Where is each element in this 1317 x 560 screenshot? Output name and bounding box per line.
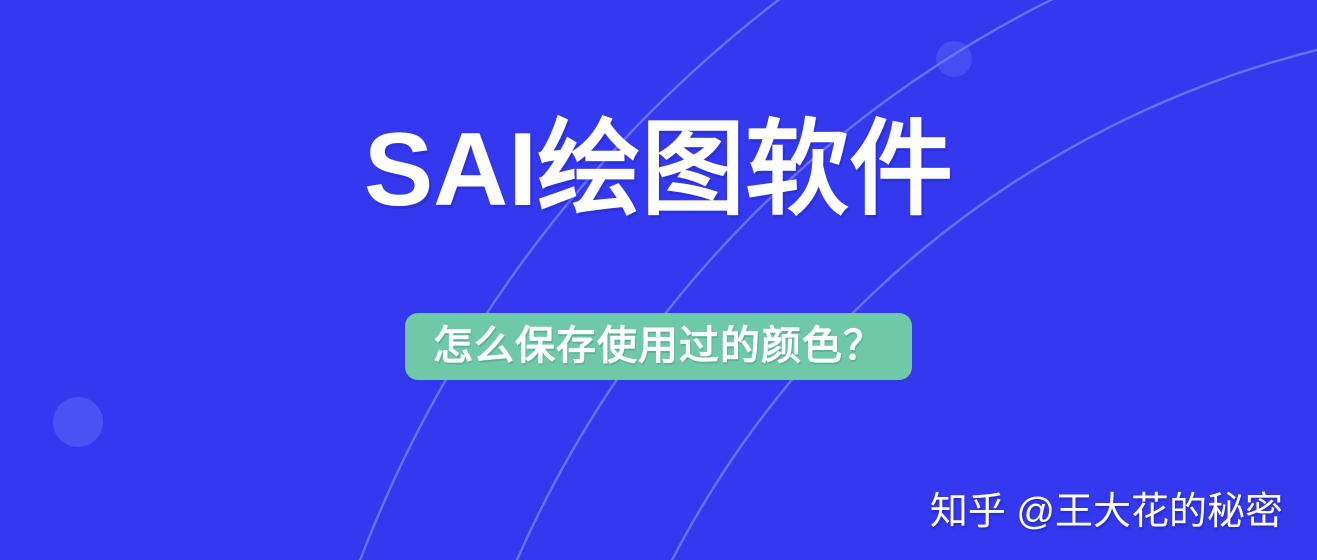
banner-content: SAI绘图软件 怎么保存使用过的颜色？ 知乎 @王大花的秘密 [0, 0, 1317, 560]
page-title: SAI绘图软件 [0, 108, 1317, 232]
sai-banner-image: SAI绘图软件 怎么保存使用过的颜色？ 知乎 @王大花的秘密 [0, 0, 1317, 560]
subtitle-row: 怎么保存使用过的颜色？ [0, 313, 1317, 380]
watermark-attribution: 知乎 @王大花的秘密 [930, 488, 1283, 536]
subtitle-badge: 怎么保存使用过的颜色？ [405, 313, 912, 380]
